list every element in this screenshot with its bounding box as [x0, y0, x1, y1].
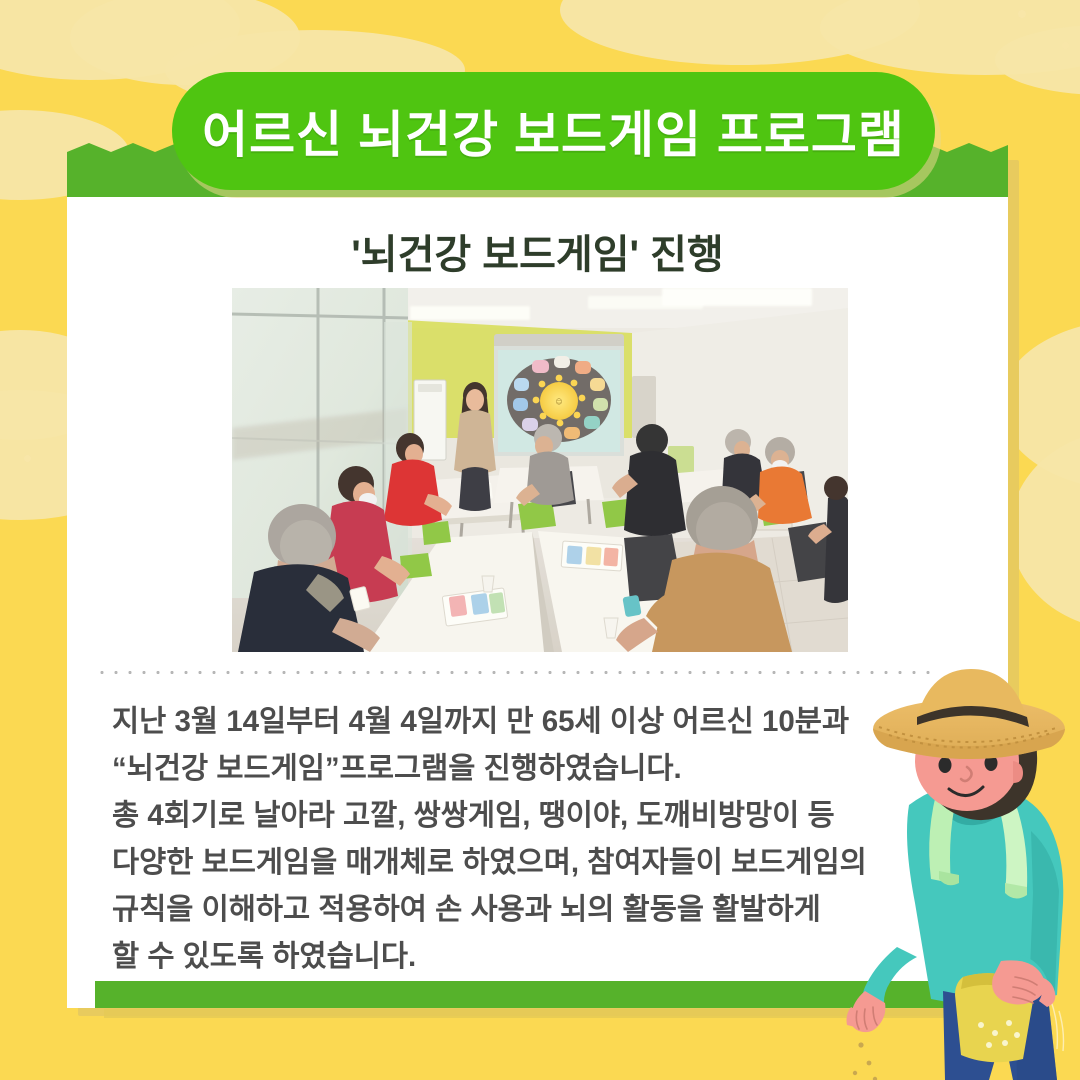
body-text: 지난 3월 14일부터 4월 4일까지 만 65세 이상 어르신 10분과 “뇌… — [112, 698, 902, 980]
cloud-speck — [1062, 42, 1069, 49]
activity-photo: ☺ — [232, 288, 848, 652]
cloud-speck — [24, 455, 31, 462]
poster-root: 어르신 뇌건강 보드게임 프로그램 '뇌건강 보드게임' 진행 — [0, 0, 1080, 1080]
body-line: 지난 3월 14일부터 4월 4일까지 만 65세 이상 어르신 10분과 — [112, 698, 902, 745]
farmer-sowing-seeds-illustration — [845, 655, 1080, 1080]
body-line: 다양한 보드게임을 매개체로 하였으며, 참여자들이 보드게임의 — [112, 839, 902, 886]
body-line: 규칙을 이해하고 적용하여 손 사용과 뇌의 활동을 활발하게 — [112, 886, 902, 933]
body-line: 할 수 있도록 하였습니다. — [112, 933, 902, 980]
dotted-divider — [95, 670, 940, 675]
subtitle: '뇌건강 보드게임' 진행 — [67, 222, 1008, 280]
body-line: 총 4회기로 날아라 고깔, 쌍쌍게임, 땡이야, 도깨비방망이 등 — [112, 792, 902, 839]
body-line: “뇌건강 보드게임”프로그램을 진행하였습니다. — [112, 745, 902, 792]
cloud-speck — [1018, 10, 1026, 18]
cloud-shape — [1010, 430, 1080, 630]
title-pill: 어르신 뇌건강 보드게임 프로그램 — [172, 72, 935, 190]
page-title: 어르신 뇌건강 보드게임 프로그램 — [202, 95, 905, 167]
